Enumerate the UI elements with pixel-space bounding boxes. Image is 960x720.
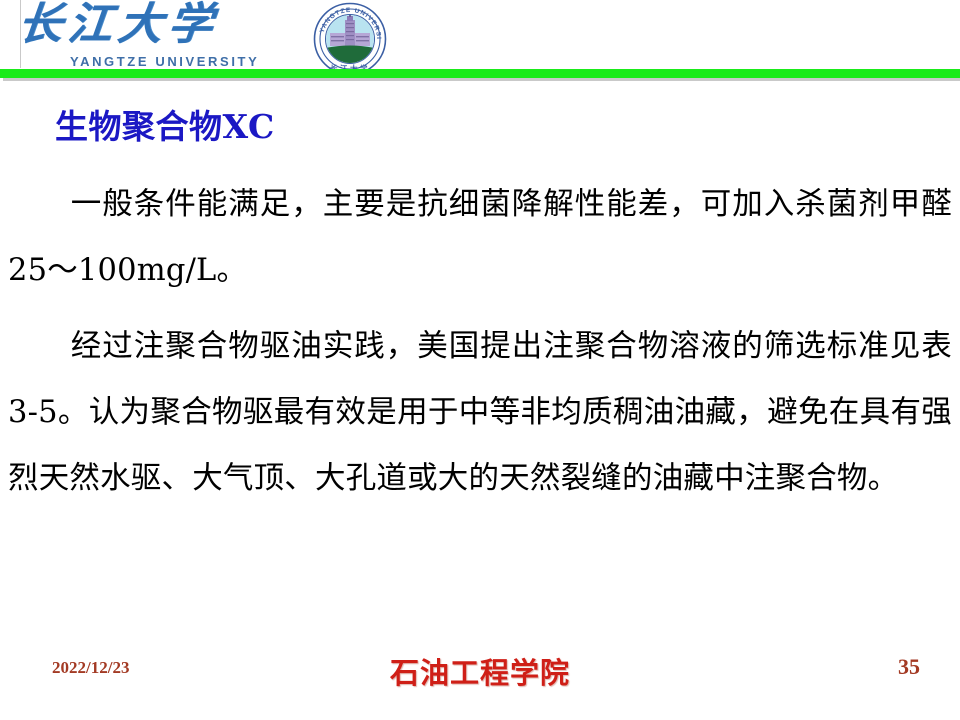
- body-paragraph-1: 一般条件能满足，主要是抗细菌降解性能差，可加入杀菌剂甲醛25～100mg/L。: [8, 172, 952, 304]
- slide-header: 长江大学 YANGTZE UNIVERSITY: [0, 0, 960, 80]
- header-accent-bar-shadow: [3, 78, 960, 81]
- university-logo: 长江大学 YANGTZE UNIVERSITY: [18, 2, 286, 74]
- slide-canvas: 长江大学 YANGTZE UNIVERSITY: [0, 0, 960, 720]
- body-paragraph-2: 经过注聚合物驱油实践，美国提出注聚合物溶液的筛选标准见表3-5。认为聚合物驱最有…: [8, 314, 952, 512]
- header-accent-bar: [0, 69, 960, 78]
- university-seal-icon: YANGTZE UNIVERSITY 长江大学: [313, 2, 387, 76]
- university-logo-cn-text: 长江大学: [15, 0, 289, 52]
- slide-footer: 2022/12/23 石油工程学院 35: [0, 648, 960, 696]
- slide-body: 一般条件能满足，主要是抗细菌降解性能差，可加入杀菌剂甲醛25～100mg/L。 …: [8, 172, 952, 512]
- page-title: 生物聚合物XC: [55, 100, 275, 148]
- body-paragraph-2-text: 经过注聚合物驱油实践，美国提出注聚合物溶液的筛选标准见表3-5。认为聚合物驱最有…: [8, 329, 952, 496]
- footer-page-number: 35: [898, 654, 920, 680]
- footer-department: 石油工程学院: [0, 650, 960, 692]
- university-logo-en-text: YANGTZE UNIVERSITY: [70, 54, 259, 69]
- body-paragraph-1-text: 一般条件能满足，主要是抗细菌降解性能差，可加入杀菌剂甲醛25～100mg/L。: [8, 187, 952, 288]
